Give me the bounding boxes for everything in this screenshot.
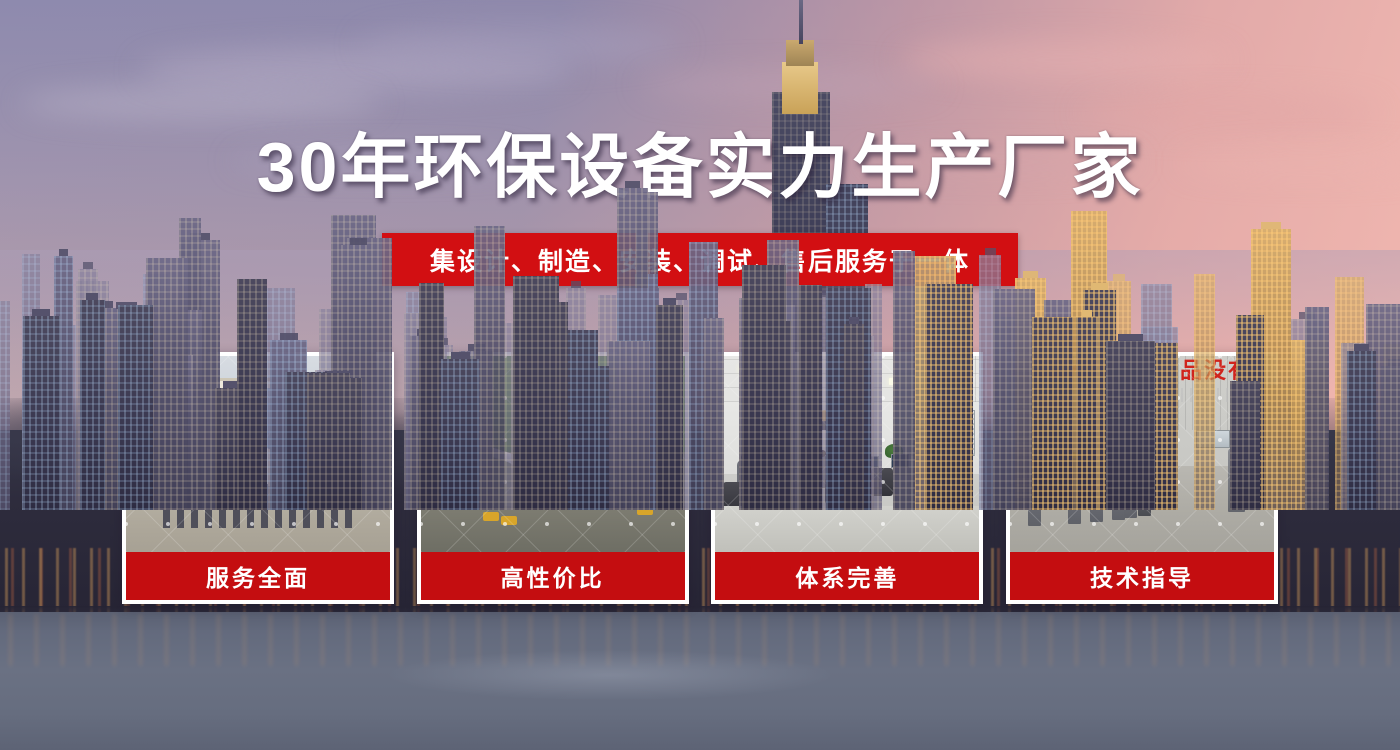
skyline-building <box>1106 341 1155 510</box>
feature-card-caption: 服务全面 <box>126 552 390 600</box>
feature-card-caption: 体系完善 <box>715 552 979 600</box>
skyline-building <box>799 285 821 510</box>
banner-headline: 30年环保设备实力生产厂家 <box>0 132 1400 202</box>
skyline-building <box>1305 307 1329 510</box>
skyline-building <box>1230 381 1260 510</box>
banner-stage: 30年环保设备实力生产厂家 集设计、制造、安装、调试、售后服务于一体 中基机械 … <box>0 0 1400 750</box>
skyline-building <box>893 251 915 510</box>
tower-crown <box>782 62 818 114</box>
skyline-building <box>23 316 60 510</box>
skyline-building <box>607 341 650 510</box>
skyline-building <box>742 265 786 510</box>
skyline-building <box>118 305 153 510</box>
skyline-building <box>441 359 479 510</box>
skyline-building <box>237 279 267 510</box>
water-sheen <box>300 640 920 710</box>
skyline-building <box>80 300 105 510</box>
skyline-building <box>513 276 559 510</box>
tower-spire <box>799 0 803 44</box>
skyline-building <box>0 301 10 510</box>
feature-card-caption-text: 服务全面 <box>206 559 310 593</box>
skyline-building <box>925 284 973 510</box>
feature-card-caption: 高性价比 <box>421 552 685 600</box>
feature-card-caption-text: 技术指导 <box>1090 559 1194 593</box>
skyline-building <box>656 305 682 510</box>
skyline-building <box>1032 317 1073 510</box>
skyline-building <box>419 283 444 510</box>
skyline-building <box>844 324 864 510</box>
feature-card-caption: 技术指导 <box>1010 552 1274 600</box>
skyline-building <box>1076 317 1098 510</box>
skyline-building <box>1347 351 1376 510</box>
skyline-building <box>307 373 349 510</box>
feature-card-caption-text: 体系完善 <box>795 559 899 593</box>
feature-card-caption-text: 高性价比 <box>501 559 605 593</box>
skyline-building <box>1194 274 1215 510</box>
skyline-building <box>704 318 725 510</box>
skyline-building <box>993 289 1035 510</box>
